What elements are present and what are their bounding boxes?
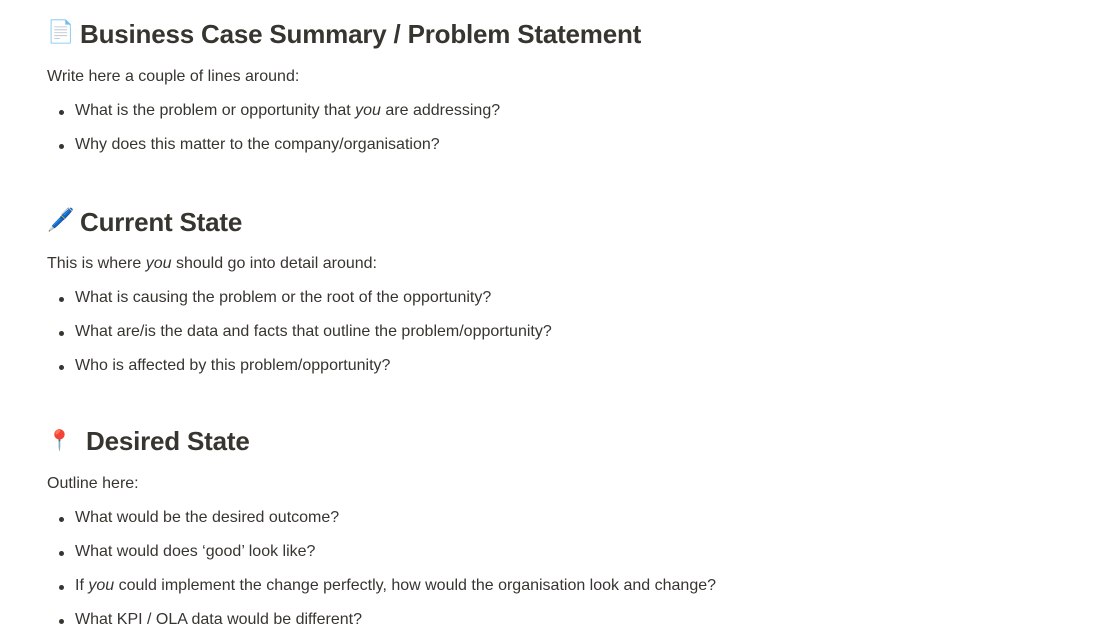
list-item[interactable]: What would be the desired outcome? xyxy=(47,506,1112,530)
section-heading-desired-state[interactable]: 📍 Desired State xyxy=(47,425,1112,458)
list-item-text-after: could implement the change perfectly, ho… xyxy=(114,577,716,594)
page-title[interactable]: 📄 Business Case Summary / Problem Statem… xyxy=(47,18,1112,51)
list-item[interactable]: What are/is the data and facts that outl… xyxy=(47,320,1112,344)
pen-icon: 🖊️ xyxy=(47,210,73,232)
list-item[interactable]: Why does this matter to the company/orga… xyxy=(47,133,1112,157)
section-intro-text: This is where you should go into detail … xyxy=(47,252,1112,276)
list-item-text-before: Who is affected by this problem/opportun… xyxy=(75,357,390,374)
list-item-text-before: What would does ‘good’ look like? xyxy=(75,543,315,560)
page-facing-up-icon: 📄 xyxy=(47,22,73,44)
list-item[interactable]: What KPI / OLA data would be different? xyxy=(47,608,1112,632)
section-desired-state: 📍 Desired State Outline here: What would… xyxy=(47,378,1112,632)
list-item-emphasis: you xyxy=(88,577,114,594)
section-heading-text: Current State xyxy=(80,206,242,239)
list-item[interactable]: What is causing the problem or the root … xyxy=(47,286,1112,310)
list-item-text-before: What would be the desired outcome? xyxy=(75,509,339,526)
section-heading-text: Desired State xyxy=(86,425,250,458)
intro-text-before: This is where xyxy=(47,255,146,272)
list-item-text-before: Why does this matter to the company/orga… xyxy=(75,136,440,153)
section-heading-current-state[interactable]: 🖊️ Current State xyxy=(47,206,1112,239)
list-item-text-before: What is causing the problem or the root … xyxy=(75,289,491,306)
list-item-text-before: What are/is the data and facts that outl… xyxy=(75,323,552,340)
section-business-case-summary: 📄 Business Case Summary / Problem Statem… xyxy=(47,0,1112,157)
list-item-emphasis: you xyxy=(355,102,381,119)
list-item[interactable]: Who is affected by this problem/opportun… xyxy=(47,354,1112,378)
bullet-list-desired-state: What would be the desired outcome? What … xyxy=(47,506,1112,632)
section-intro-text: Write here a couple of lines around: xyxy=(47,65,1112,89)
document-page: 📄 Business Case Summary / Problem Statem… xyxy=(0,0,1112,632)
list-item[interactable]: What would does ‘good’ look like? xyxy=(47,540,1112,564)
list-item-text-after: are addressing? xyxy=(381,102,500,119)
list-item-text-before: If xyxy=(75,577,88,594)
bullet-list-current-state: What is causing the problem or the root … xyxy=(47,286,1112,378)
intro-emphasis: you xyxy=(146,255,172,272)
bullet-list-business-case: What is the problem or opportunity that … xyxy=(47,99,1112,157)
list-item[interactable]: If you could implement the change perfec… xyxy=(47,574,1112,598)
list-item-text-before: What is the problem or opportunity that xyxy=(75,102,355,119)
intro-text-after: should go into detail around: xyxy=(172,255,377,272)
list-item[interactable]: What is the problem or opportunity that … xyxy=(47,99,1112,123)
page-title-text: Business Case Summary / Problem Statemen… xyxy=(80,18,641,51)
list-item-text-before: What KPI / OLA data would be different? xyxy=(75,611,362,628)
section-intro-text: Outline here: xyxy=(47,472,1112,496)
round-pushpin-icon: 📍 xyxy=(47,430,73,450)
section-current-state: 🖊️ Current State This is where you shoul… xyxy=(47,157,1112,379)
